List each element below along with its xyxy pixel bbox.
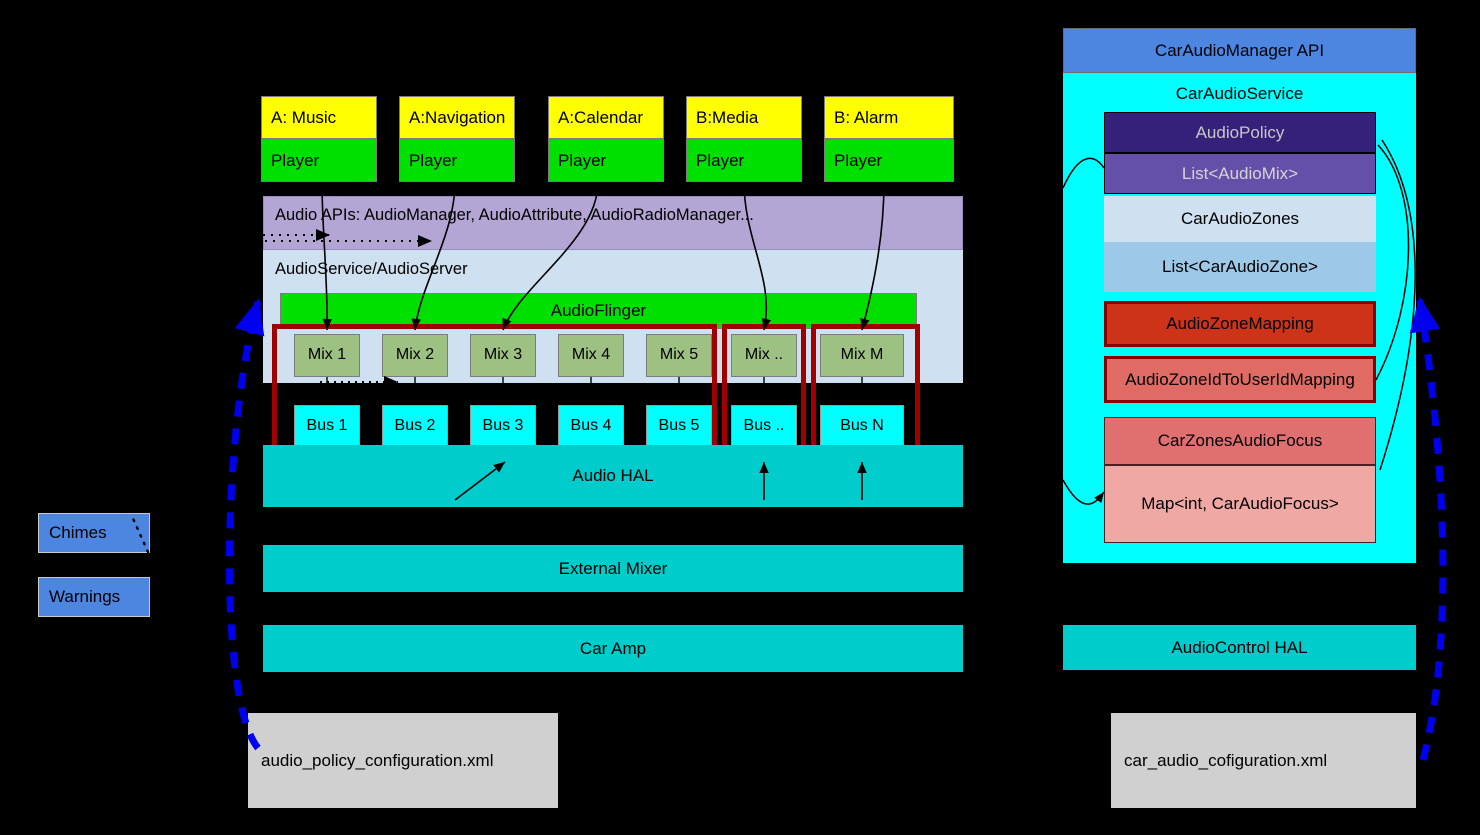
bus-box-3: Bus 3: [470, 405, 536, 448]
app-player-label: Player: [558, 151, 606, 171]
mix-label: Mix 1: [308, 346, 346, 364]
bus-box-dots: Bus ..: [731, 405, 797, 448]
car-zones-audio-focus-label: CarZonesAudioFocus: [1158, 431, 1322, 451]
mix-box-dots: Mix ..: [731, 334, 797, 377]
source-box-chimes: Chimes: [38, 513, 150, 553]
external-mixer-box: External Mixer: [263, 545, 963, 592]
source-label: Chimes: [49, 523, 107, 543]
config-file-label: audio_policy_configuration.xml: [261, 751, 493, 771]
audio-zone-mapping-box: AudioZoneMapping: [1104, 301, 1376, 347]
app-title-label: A:Navigation: [409, 108, 505, 128]
bus-box-4: Bus 4: [558, 405, 624, 448]
app-player-label: Player: [409, 151, 457, 171]
bus-label: Bus 4: [571, 417, 612, 435]
source-box-warnings: Warnings: [38, 577, 150, 617]
mix-box-5: Mix 5: [646, 334, 712, 377]
app-title-calendar: A:Calendar: [548, 96, 664, 139]
bus-box-5: Bus 5: [646, 405, 712, 448]
car-audio-service-label: CarAudioService: [1176, 84, 1304, 104]
bus-box-1: Bus 1: [294, 405, 360, 448]
bus-label: Bus 3: [483, 417, 524, 435]
car-audio-zone-list-label: List<CarAudioZone>: [1162, 257, 1318, 277]
app-player-music: Player: [261, 139, 377, 182]
audio-service-label: AudioService/AudioServer: [275, 260, 468, 279]
audio-zone-id-user-id-mapping-box: AudioZoneIdToUserIdMapping: [1104, 356, 1376, 403]
app-title-media: B:Media: [686, 96, 802, 139]
diagram-canvas: A: Music Player A:Navigation Player A:Ca…: [0, 0, 1480, 835]
car-zones-audio-focus-box: CarZonesAudioFocus: [1104, 417, 1376, 465]
bus-box-n: Bus N: [820, 405, 904, 448]
mix-label: Mix ..: [745, 346, 783, 364]
external-mixer-label: External Mixer: [559, 559, 668, 579]
audiocontrol-hal-label: AudioControl HAL: [1171, 638, 1307, 658]
audio-hal-band: Audio HAL: [263, 445, 963, 507]
audio-zone-id-user-id-mapping-label: AudioZoneIdToUserIdMapping: [1125, 370, 1355, 390]
app-title-navigation: A:Navigation: [399, 96, 515, 139]
mix-label: Mix 3: [484, 346, 522, 364]
mix-box-m: Mix M: [820, 334, 904, 377]
audio-flinger-label: AudioFlinger: [551, 301, 646, 321]
app-player-label: Player: [271, 151, 319, 171]
bus-box-2: Bus 2: [382, 405, 448, 448]
bus-label: Bus 5: [659, 417, 700, 435]
audio-apis-label: Audio APIs: AudioManager, AudioAttribute…: [275, 206, 754, 225]
car-audio-manager-api-label: CarAudioManager API: [1155, 41, 1324, 61]
bus-label: Bus 1: [307, 417, 348, 435]
app-title-label: B: Alarm: [834, 108, 898, 128]
car-audio-focus-map-box: Map<int, CarAudioFocus>: [1104, 465, 1376, 543]
mix-label: Mix 5: [660, 346, 698, 364]
audio-policy-config-xml: audio_policy_configuration.xml: [248, 713, 558, 808]
mix-box-4: Mix 4: [558, 334, 624, 377]
bus-label: Bus 2: [395, 417, 436, 435]
car-audio-focus-map-label: Map<int, CarAudioFocus>: [1141, 494, 1339, 514]
car-amp-box: Car Amp: [263, 625, 963, 672]
mix-label: Mix 2: [396, 346, 434, 364]
app-player-label: Player: [834, 151, 882, 171]
car-audio-zones-label: CarAudioZones: [1181, 209, 1299, 229]
app-title-label: A:Calendar: [558, 108, 643, 128]
car-audio-zone-list-box: List<CarAudioZone>: [1104, 242, 1376, 292]
app-player-navigation: Player: [399, 139, 515, 182]
audio-policy-box: AudioPolicy: [1104, 112, 1376, 153]
app-player-calendar: Player: [548, 139, 664, 182]
audio-zone-mapping-label: AudioZoneMapping: [1166, 314, 1313, 334]
audio-mix-list-box: List<AudioMix>: [1104, 153, 1376, 194]
app-player-alarm: Player: [824, 139, 954, 182]
car-amp-label: Car Amp: [580, 639, 646, 659]
app-title-music: A: Music: [261, 96, 377, 139]
bus-label: Bus N: [840, 417, 884, 435]
app-player-media: Player: [686, 139, 802, 182]
audio-mix-list-label: List<AudioMix>: [1182, 164, 1298, 184]
mix-box-3: Mix 3: [470, 334, 536, 377]
car-audio-zones-box: CarAudioZones: [1104, 196, 1376, 242]
mix-box-1: Mix 1: [294, 334, 360, 377]
mix-label: Mix M: [841, 346, 884, 364]
app-title-label: A: Music: [271, 108, 336, 128]
app-title-label: B:Media: [696, 108, 758, 128]
car-audio-config-xml: car_audio_cofiguration.xml: [1111, 713, 1416, 808]
config-dashed-arrow-right: [1420, 300, 1443, 760]
config-file-label: car_audio_cofiguration.xml: [1124, 751, 1327, 771]
mix-label: Mix 4: [572, 346, 610, 364]
bus-label: Bus ..: [744, 417, 785, 435]
audio-policy-label: AudioPolicy: [1196, 123, 1285, 143]
mix-box-2: Mix 2: [382, 334, 448, 377]
app-title-alarm: B: Alarm: [824, 96, 954, 139]
car-audio-manager-api-box: CarAudioManager API: [1063, 28, 1416, 73]
config-dashed-arrow-left: [229, 302, 258, 748]
app-player-label: Player: [696, 151, 744, 171]
audio-hal-label: Audio HAL: [572, 466, 653, 486]
source-label: Warnings: [49, 587, 120, 607]
audio-apis-band: Audio APIs: AudioManager, AudioAttribute…: [263, 196, 963, 250]
audiocontrol-hal-box: AudioControl HAL: [1063, 625, 1416, 670]
